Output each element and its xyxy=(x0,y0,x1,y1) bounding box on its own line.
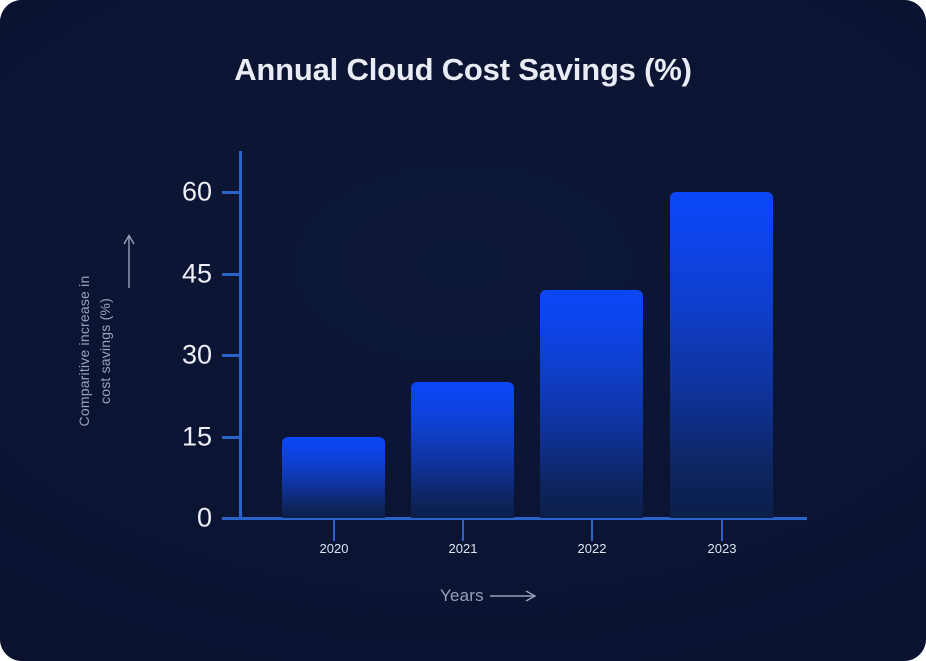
x-tick-2020 xyxy=(333,519,335,541)
bar-2020[interactable] xyxy=(282,437,385,519)
plot-area: 0 15 30 45 60 2020 2021 2022 2023 Compar… xyxy=(0,0,926,661)
y-tick-15 xyxy=(222,436,240,439)
y-tick-60 xyxy=(222,191,240,194)
x-tick-label-2021: 2021 xyxy=(403,541,523,556)
y-tick-label-60: 60 xyxy=(152,177,212,208)
y-tick-45 xyxy=(222,273,240,276)
x-tick-label-2020: 2020 xyxy=(274,541,394,556)
x-axis-label-group: Years xyxy=(440,586,538,606)
y-axis-line xyxy=(239,151,242,519)
y-tick-label-0: 0 xyxy=(152,503,212,534)
bar-2023[interactable] xyxy=(670,192,773,518)
x-axis-label: Years xyxy=(440,586,484,606)
x-tick-2021 xyxy=(462,519,464,541)
y-tick-label-45: 45 xyxy=(152,258,212,289)
y-axis-label: Comparitive increase in cost savings (%) xyxy=(74,211,116,491)
bar-2022[interactable] xyxy=(540,290,643,518)
y-tick-30 xyxy=(222,354,240,357)
x-tick-2023 xyxy=(721,519,723,541)
y-tick-label-15: 15 xyxy=(152,421,212,452)
y-tick-label-30: 30 xyxy=(152,340,212,371)
chart-card: Annual Cloud Cost Savings (%) 0 15 30 45… xyxy=(0,0,926,661)
chart-title: Annual Cloud Cost Savings (%) xyxy=(0,52,926,88)
bar-2021[interactable] xyxy=(411,382,514,518)
x-axis-arrow-icon xyxy=(490,589,538,603)
x-tick-2022 xyxy=(591,519,593,541)
x-tick-label-2022: 2022 xyxy=(532,541,652,556)
y-axis-arrow-icon xyxy=(122,232,136,288)
x-tick-label-2023: 2023 xyxy=(662,541,782,556)
y-tick-0 xyxy=(222,517,240,520)
